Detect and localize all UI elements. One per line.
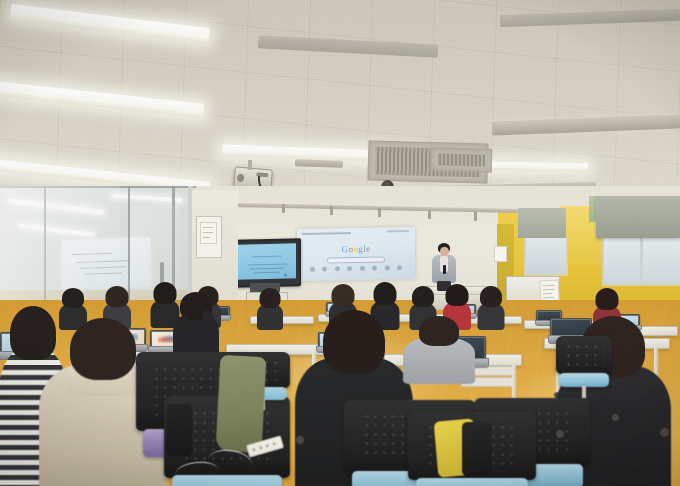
attendee [478,286,503,328]
rail-bracket [428,210,431,219]
tv-screen [238,243,296,279]
rail-bracket [474,212,477,221]
projection-screen: Google [297,227,415,281]
microphone [443,265,446,274]
projector-mount [248,160,252,170]
chair-caster [612,414,619,421]
attendee [258,288,282,328]
google-logo: Google [342,245,371,255]
browser-tabs [387,230,409,232]
attendee-gray-sweater [406,316,472,380]
roller-blind [596,196,680,238]
black-bag [462,422,492,476]
chair-caster [556,430,564,438]
hvac-vent [430,147,493,173]
black-bag [166,404,192,456]
google-search-box [327,256,385,263]
rail-bracket [378,208,381,217]
rail-bracket [330,206,333,215]
window-mullion [640,234,643,282]
flat-panel-tv [233,238,301,288]
olive-coat-on-chair [216,355,267,453]
wall-poster [200,222,217,244]
google-shortcut-tiles [310,265,402,272]
rail-bracket [282,204,285,213]
roller-blind [518,208,566,238]
chair-caster [296,436,304,444]
door-handle[interactable] [160,262,164,284]
classroom-photo: Google Google search homepage [0,0,680,486]
wall-notice [494,246,507,262]
chair[interactable] [556,336,612,398]
chair-caster [660,428,669,437]
window-right [524,236,568,276]
